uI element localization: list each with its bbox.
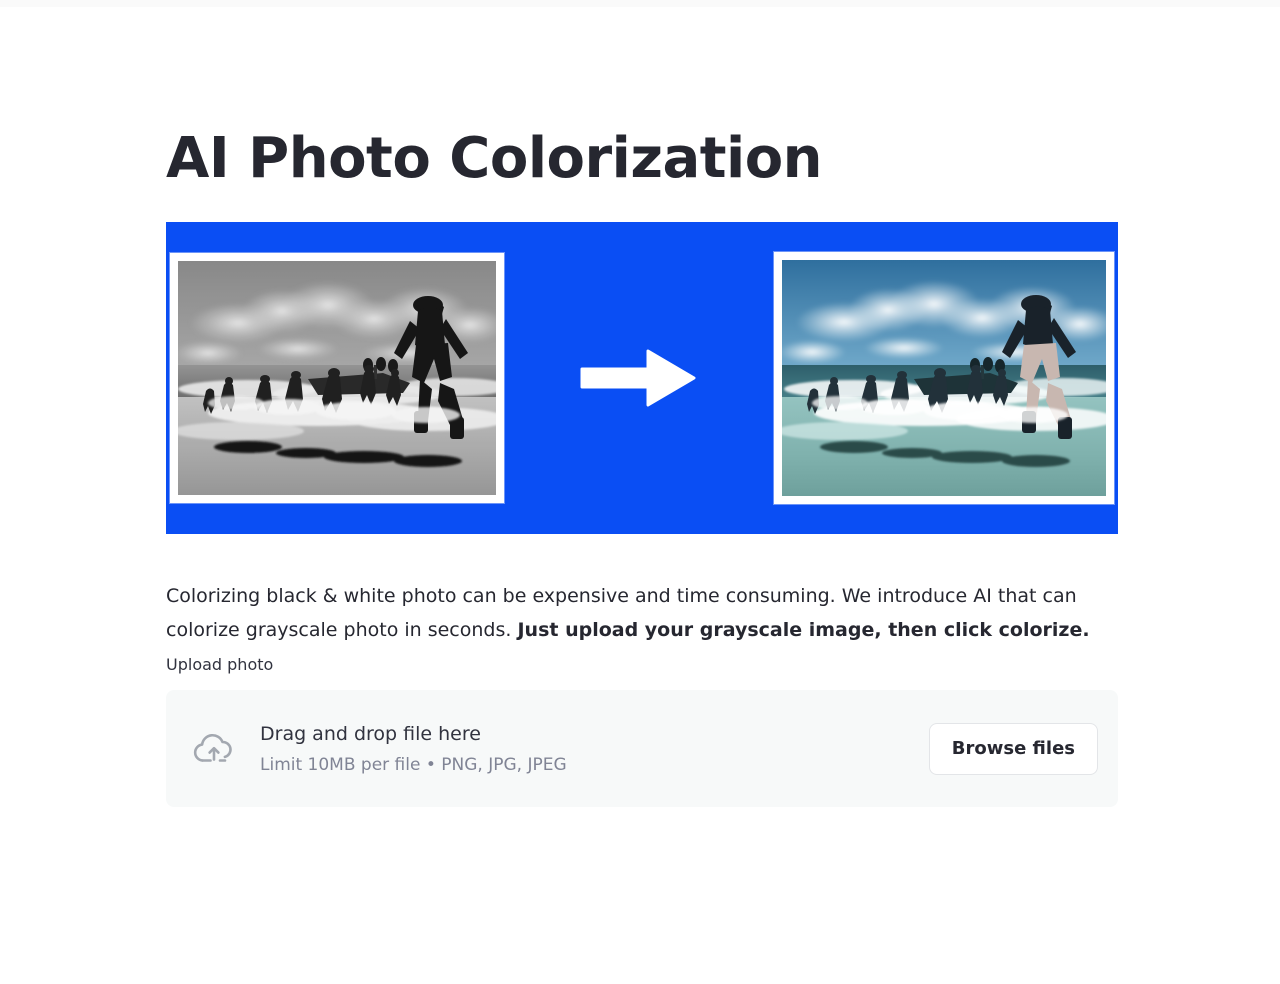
hero-banner-inner xyxy=(166,222,1118,534)
upload-photo-label: Upload photo xyxy=(166,652,273,678)
file-dropzone[interactable]: Drag and drop file here Limit 10MB per f… xyxy=(166,690,1118,807)
description-paragraph: Colorizing black & white photo can be ex… xyxy=(166,579,1106,647)
dropzone-text: Drag and drop file here Limit 10MB per f… xyxy=(260,720,929,778)
app-header-strip xyxy=(0,0,1280,7)
cloud-upload-icon xyxy=(190,725,238,773)
before-photo-image xyxy=(178,261,496,495)
description-bold: Just upload your grayscale image, then c… xyxy=(517,619,1089,641)
browse-files-button[interactable]: Browse files xyxy=(929,723,1098,775)
hero-banner xyxy=(166,222,1118,534)
arrow-right-icon xyxy=(578,347,700,409)
after-photo-frame xyxy=(774,252,1114,504)
dropzone-title: Drag and drop file here xyxy=(260,720,929,748)
before-photo-frame xyxy=(170,253,504,503)
page-title: AI Photo Colorization xyxy=(166,124,822,194)
dropzone-subtitle: Limit 10MB per file • PNG, JPG, JPEG xyxy=(260,752,929,778)
app-root: AI Photo Colorization xyxy=(0,0,1280,984)
after-photo-image xyxy=(782,260,1106,496)
